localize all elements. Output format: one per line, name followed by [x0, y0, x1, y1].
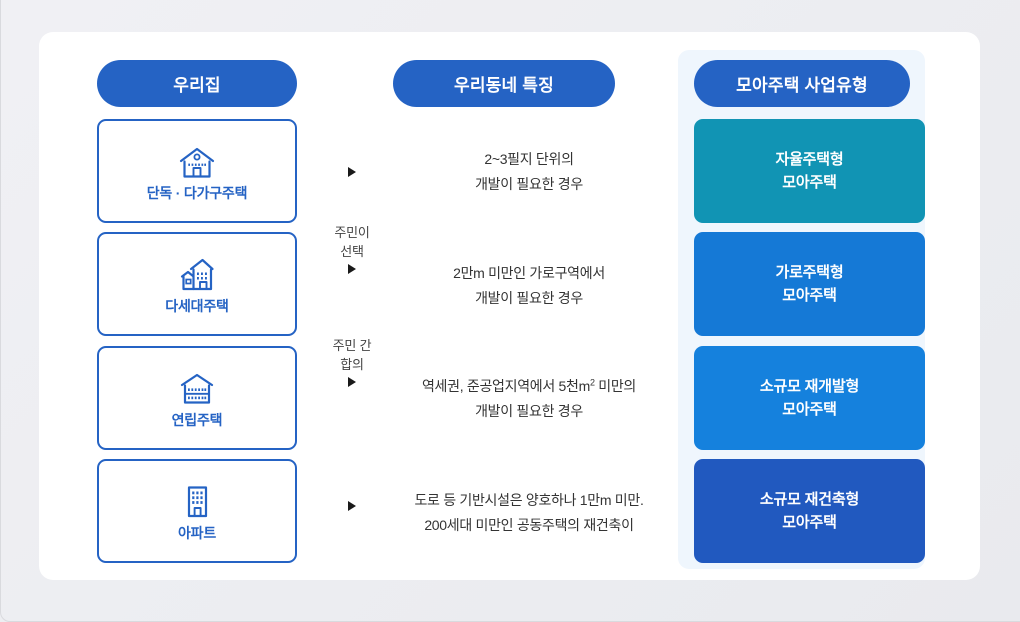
- connector-label-line2: 선택: [340, 242, 364, 261]
- page-viewport: 우리집 우리동네 특징 모아주택 사업유형: [0, 0, 1020, 622]
- detached-house-icon: [178, 140, 216, 180]
- play-arrow-icon: [348, 264, 356, 274]
- column-header-project-types: 모아주택 사업유형: [694, 60, 910, 107]
- condition-line2: 200세대 미만인 공동주택의 재건축이: [424, 517, 633, 533]
- condition-line1: 2~3필지 단위의: [484, 151, 573, 167]
- project-type-line1: 자율주택형: [775, 148, 843, 171]
- play-arrow-icon: [348, 501, 356, 511]
- column-header-home-label: 우리집: [173, 71, 221, 96]
- condition-text-1: 2만m 미만인 가로구역에서 개발이 필요한 경우: [369, 261, 689, 311]
- condition-line2: 개발이 필요한 경우: [475, 176, 583, 192]
- play-arrow-icon: [348, 377, 356, 387]
- project-type-line1: 소규모 재개발형: [760, 375, 859, 398]
- column-header-town: 우리동네 특징: [393, 60, 615, 107]
- project-type-line2: 모아주택: [782, 398, 836, 421]
- house-type-label: 연립주택: [172, 410, 223, 430]
- condition-text-0: 2~3필지 단위의 개발이 필요한 경우: [369, 147, 689, 197]
- house-type-card-apartment[interactable]: 아파트: [97, 459, 297, 563]
- connector-label-line2: 합의: [340, 355, 364, 374]
- condition-line1-tail: 미만의: [595, 378, 636, 394]
- infographic-card: 우리집 우리동네 특징 모아주택 사업유형: [39, 32, 980, 580]
- project-type-card-small-reconstruction[interactable]: 소규모 재건축형 모아주택: [694, 459, 925, 563]
- column-header-town-label: 우리동네 특징: [454, 71, 554, 96]
- project-type-line2: 모아주택: [782, 171, 836, 194]
- project-type-line2: 모아주택: [782, 284, 836, 307]
- project-type-card-autonomous[interactable]: 자율주택형 모아주택: [694, 119, 925, 223]
- column-header-project-types-label: 모아주택 사업유형: [736, 71, 868, 96]
- house-type-label: 단독 · 다가구주택: [147, 183, 248, 203]
- project-type-card-street[interactable]: 가로주택형 모아주택: [694, 232, 925, 336]
- multiplex-house-icon: [178, 253, 216, 293]
- condition-line1: 2만m 미만인 가로구역에서: [453, 265, 605, 281]
- condition-line2: 개발이 필요한 경우: [475, 290, 583, 306]
- column-header-home: 우리집: [97, 60, 297, 107]
- project-type-line1: 소규모 재건축형: [760, 488, 859, 511]
- project-type-line2: 모아주택: [782, 511, 836, 534]
- condition-text-3: 도로 등 기반시설은 양호하나 1만m 미만. 200세대 미만인 공동주택의 …: [369, 488, 689, 538]
- apartment-building-icon: [180, 480, 214, 520]
- project-type-card-small-redevelopment[interactable]: 소규모 재개발형 모아주택: [694, 346, 925, 450]
- house-type-card-multiplex[interactable]: 다세대주택: [97, 232, 297, 336]
- condition-line1: 역세권, 준공업지역에서 5천m: [422, 378, 590, 394]
- house-type-label: 다세대주택: [165, 296, 228, 316]
- condition-line1: 도로 등 기반시설은 양호하나 1만m 미만.: [414, 492, 643, 508]
- connector-label-line1: 주민이: [334, 223, 369, 242]
- project-type-line1: 가로주택형: [775, 261, 843, 284]
- house-type-label: 아파트: [178, 523, 216, 543]
- play-arrow-icon: [348, 167, 356, 177]
- rowhouse-icon: [178, 367, 216, 407]
- connector-label-line1: 주민 간: [333, 336, 372, 355]
- house-type-card-detached[interactable]: 단독 · 다가구주택: [97, 119, 297, 223]
- condition-line2: 개발이 필요한 경우: [475, 403, 583, 419]
- condition-text-2: 역세권, 준공업지역에서 5천m2 미만의 개발이 필요한 경우: [369, 374, 689, 424]
- house-type-card-rowhouse[interactable]: 연립주택: [97, 346, 297, 450]
